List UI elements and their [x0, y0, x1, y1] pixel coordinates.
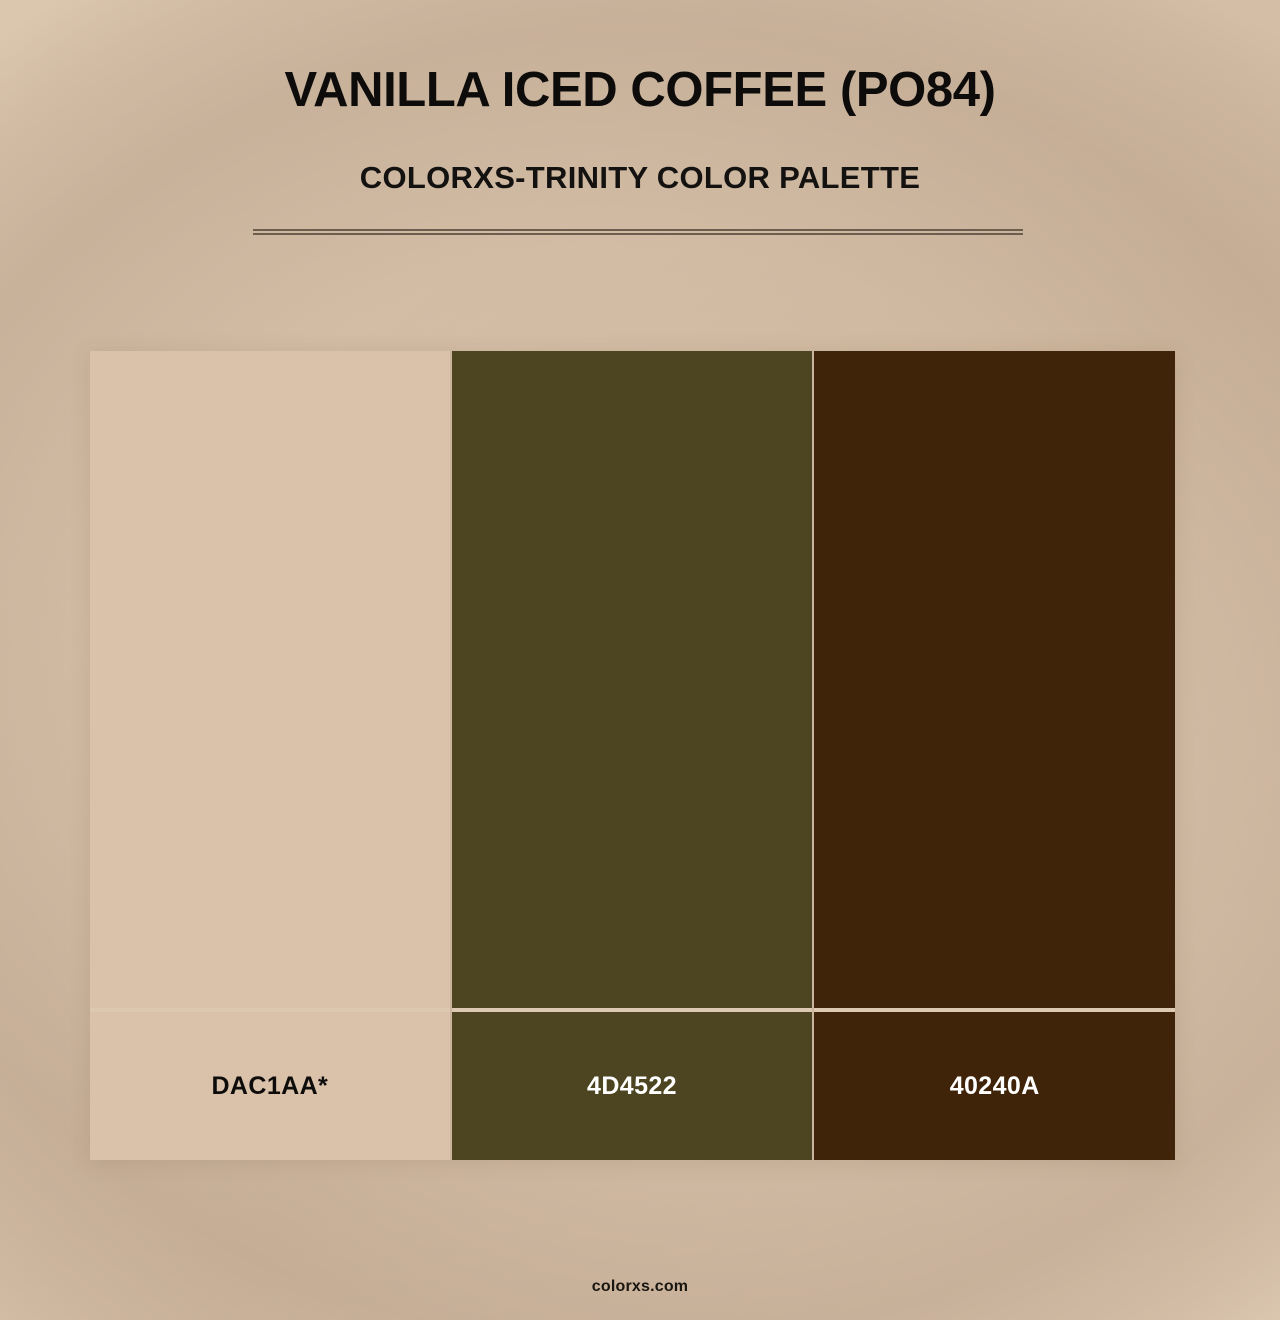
- footer: colorxs.com: [0, 1278, 1280, 1296]
- swatch-color-3[interactable]: [814, 351, 1175, 1008]
- swatch-label-strip-1[interactable]: DAC1AA*: [90, 1012, 450, 1160]
- swatch-hex-label-1: DAC1AA*: [211, 1072, 328, 1101]
- swatch-column-1[interactable]: DAC1AA*: [90, 351, 450, 1160]
- swatch-hex-label-2: 4D4522: [587, 1072, 677, 1101]
- color-swatch-grid: DAC1AA* 4D4522 40240A: [90, 351, 1175, 1160]
- palette-page: VANILLA ICED COFFEE (PO84) COLORXS-TRINI…: [0, 0, 1280, 1320]
- title-divider: [253, 229, 1023, 235]
- page-title: VANILLA ICED COFFEE (PO84): [0, 64, 1280, 117]
- swatch-label-strip-2[interactable]: 4D4522: [452, 1012, 813, 1160]
- swatch-label-strip-3[interactable]: 40240A: [814, 1012, 1175, 1160]
- page-subtitle: COLORXS-TRINITY COLOR PALETTE: [0, 117, 1280, 195]
- header: VANILLA ICED COFFEE (PO84) COLORXS-TRINI…: [0, 0, 1280, 195]
- title-divider-line-bottom: [253, 233, 1023, 235]
- swatch-column-3[interactable]: 40240A: [812, 351, 1175, 1160]
- swatch-hex-label-3: 40240A: [950, 1072, 1040, 1101]
- swatch-column-2[interactable]: 4D4522: [450, 351, 813, 1160]
- swatch-color-2[interactable]: [452, 351, 813, 1008]
- swatch-color-1[interactable]: [90, 351, 450, 1008]
- site-credit[interactable]: colorxs.com: [592, 1278, 688, 1295]
